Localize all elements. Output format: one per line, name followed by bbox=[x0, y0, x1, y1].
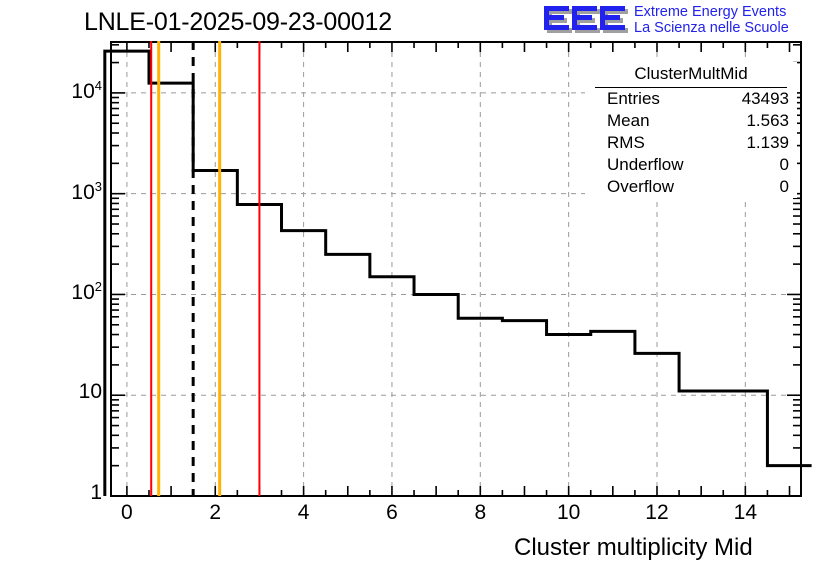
x-axis-tick-label: 12 bbox=[627, 501, 687, 525]
eee-letters-icon bbox=[542, 4, 630, 36]
eee-logo-mark bbox=[542, 4, 630, 36]
stats-key: Underflow bbox=[607, 155, 684, 175]
logo-line-2: La Scienza nelle Scuole bbox=[634, 20, 789, 36]
eee-logo: Extreme Energy Events La Scienza nelle S… bbox=[542, 2, 834, 38]
stats-row: Mean1.563 bbox=[585, 110, 797, 132]
x-axis-tick-label: 8 bbox=[450, 501, 510, 525]
stats-value: 0 bbox=[780, 177, 789, 197]
x-axis-tick-label: 2 bbox=[185, 501, 245, 525]
stats-key: Overflow bbox=[607, 177, 674, 197]
y-axis-tick-label: 10 bbox=[40, 380, 102, 404]
y-axis-tick-label: 104 bbox=[40, 78, 102, 104]
stats-key: RMS bbox=[607, 133, 645, 153]
stats-key: Mean bbox=[607, 111, 650, 131]
stats-value: 1.563 bbox=[746, 111, 789, 131]
stats-value: 1.139 bbox=[746, 133, 789, 153]
x-axis-tick-label: 0 bbox=[97, 501, 157, 525]
stats-row: Overflow0 bbox=[585, 176, 797, 198]
y-axis-tick-label: 1 bbox=[40, 481, 102, 505]
canvas: LNLE-01-2025-09-23-00012 bbox=[0, 0, 836, 572]
stats-row: Entries43493 bbox=[585, 88, 797, 110]
x-axis-title: Cluster multiplicity Mid bbox=[514, 534, 753, 562]
logo-line-1: Extreme Energy Events bbox=[634, 4, 786, 20]
y-axis-tick-label: 102 bbox=[40, 279, 102, 305]
stats-rows: Entries43493Mean1.563RMS1.139Underflow0O… bbox=[585, 88, 797, 198]
plot-title: LNLE-01-2025-09-23-00012 bbox=[84, 8, 392, 37]
y-axis-tick-label: 103 bbox=[40, 179, 102, 205]
stats-row: RMS1.139 bbox=[585, 132, 797, 154]
x-axis-tick-label: 10 bbox=[539, 501, 599, 525]
stats-histogram-name: ClusterMultMid bbox=[595, 62, 787, 88]
stats-value: 43493 bbox=[742, 89, 789, 109]
stats-value: 0 bbox=[780, 155, 789, 175]
x-axis-tick-label: 6 bbox=[362, 501, 422, 525]
x-axis-tick-label: 4 bbox=[274, 501, 334, 525]
x-axis-tick-label: 14 bbox=[715, 501, 775, 525]
stats-box: ClusterMultMid Entries43493Mean1.563RMS1… bbox=[585, 62, 797, 198]
stats-key: Entries bbox=[607, 89, 660, 109]
stats-row: Underflow0 bbox=[585, 154, 797, 176]
